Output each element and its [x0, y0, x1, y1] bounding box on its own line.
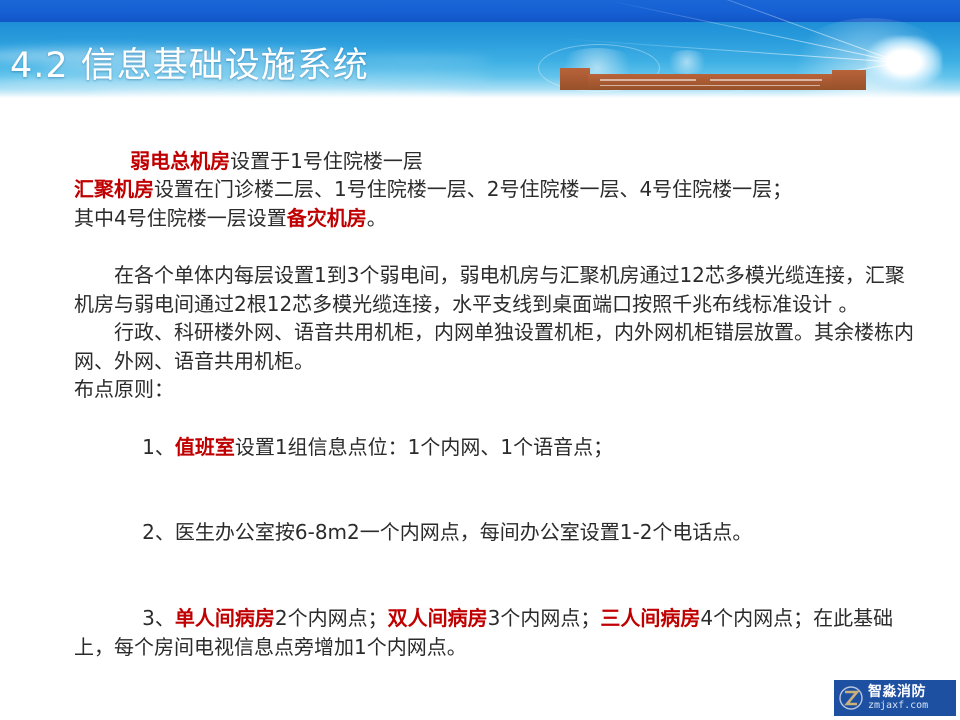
- list-item-highlight-single-room: 单人间病房: [175, 606, 275, 630]
- paragraph-rooms-text-2: 设置在门诊楼二层、1号住院楼一层、2号住院楼一层、4号住院楼一层； 其中4号住院…: [74, 177, 792, 230]
- list-item-text: 2个内网点；: [275, 606, 388, 630]
- highlight-disaster-room: 备灾机房: [287, 206, 367, 230]
- paragraph-rooms: 弱电总机房设置于1号住院楼一层 汇聚机房设置在门诊楼二层、1号住院楼一层、2号住…: [74, 118, 924, 261]
- list-item: 4、会议室设置2组信息点位：1个外网、1个内网、1个语音点；: [74, 690, 924, 720]
- list-item-highlight: 值班室: [175, 435, 235, 459]
- watermark-name: 智淼消防: [868, 685, 928, 699]
- slide-body: 弱电总机房设置于1号住院楼一层 汇聚机房设置在门诊楼二层、1号住院楼一层、2号住…: [74, 118, 924, 720]
- watermark-logo-icon: [838, 685, 864, 711]
- header-top-bar: [0, 0, 960, 22]
- list-item-highlight-triple-room: 三人间病房: [600, 606, 700, 630]
- sun-icon: [866, 36, 942, 88]
- watermark-text: 智淼消防 zmjaxf.com: [868, 685, 928, 711]
- paragraph-rooms-text-1: 设置于1号住院楼一层: [230, 149, 423, 173]
- highlight-main-room: 弱电总机房: [130, 149, 230, 173]
- cloud-streak-icon: [90, 88, 470, 98]
- paragraph-principles-heading: 布点原则：: [74, 375, 924, 404]
- highlight-aggregation-room: 汇聚机房: [74, 177, 154, 201]
- list-item-number: 1、: [142, 435, 175, 459]
- list-item-number: 2、: [142, 520, 175, 544]
- list-item-text: 3个内网点；: [488, 606, 601, 630]
- list-item-highlight-double-room: 双人间病房: [388, 606, 488, 630]
- paragraph-cabling: 在各个单体内每层设置1到3个弱电间，弱电机房与汇聚机房通过12芯多模光缆连接，汇…: [74, 261, 924, 318]
- list-item-text: 医生办公室按6-8m2一个内网点，每间办公室设置1-2个电话点。: [175, 520, 753, 544]
- watermark-url: zmjaxf.com: [868, 701, 928, 711]
- paragraph-rooms-text-3: 。: [367, 206, 387, 230]
- slide-header-banner: 4.2 信息基础设施系统: [0, 0, 960, 98]
- list-item-number: 3、: [142, 606, 175, 630]
- building-silhouette: [560, 64, 870, 90]
- watermark-badge: 智淼消防 zmjaxf.com: [834, 680, 956, 716]
- slide-canvas: 4.2 信息基础设施系统 弱电总机房设置于1号住院楼一层 汇聚机房设置在门诊楼二…: [0, 0, 960, 720]
- page-title: 4.2 信息基础设施系统: [10, 44, 369, 88]
- list-item: 1、值班室设置1组信息点位：1个内网、1个语音点；: [74, 404, 924, 490]
- list-item: 2、医生办公室按6-8m2一个内网点，每间办公室设置1-2个电话点。: [74, 490, 924, 576]
- list-item-text: 设置1组信息点位：1个内网、1个语音点；: [235, 435, 613, 459]
- paragraph-cabinets: 行政、科研楼外网、语音共用机柜，内网单独设置机柜，内外网机柜错层放置。其余楼栋内…: [74, 318, 924, 375]
- list-item: 3、单人间病房2个内网点；双人间病房3个内网点；三人间病房4个内网点；在此基础上…: [74, 576, 924, 690]
